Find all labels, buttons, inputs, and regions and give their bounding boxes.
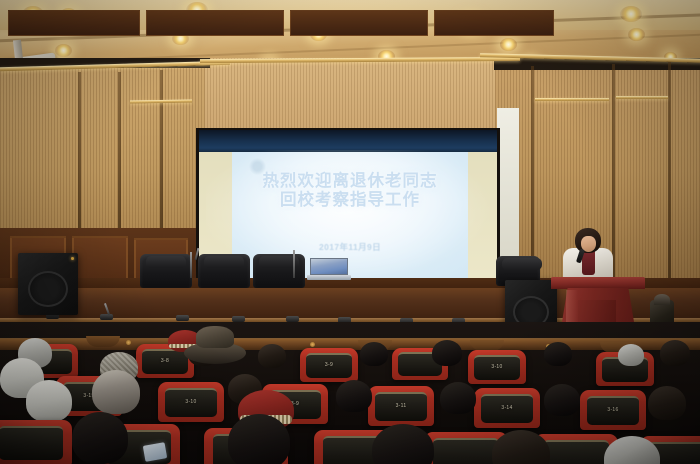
audience-seat: 3-10 <box>158 382 224 422</box>
table-microphone <box>293 250 295 278</box>
wall-panel-groove <box>612 64 615 282</box>
rail-knob-icon <box>310 342 315 347</box>
audience-head <box>440 382 476 414</box>
table-front-panel <box>290 10 428 36</box>
speaker-led-icon <box>71 257 74 260</box>
slide-title-line1: 热烈欢迎离退休老同志 <box>263 172 438 190</box>
ceiling-light-icon <box>55 44 72 57</box>
seat-back-panel: 3-11 <box>375 392 426 422</box>
wall-frame-trim <box>616 96 668 99</box>
chair-headrest <box>502 258 542 270</box>
audience-seat: 3-9 <box>300 348 358 382</box>
audience-head <box>92 370 140 414</box>
seat-number-tag: 3-14 <box>501 405 512 411</box>
audience-head <box>648 386 686 420</box>
audience-head <box>544 384 580 416</box>
seat-back-panel: 3-10 <box>165 388 216 418</box>
audience-head <box>544 342 572 366</box>
chair-headrest <box>146 256 186 268</box>
seat-back-panel: 3-14 <box>481 394 532 424</box>
wall-panel-groove <box>78 72 81 232</box>
projection-screen-mask <box>199 130 497 154</box>
table-microphone <box>190 252 192 278</box>
audience-head <box>432 340 462 366</box>
audience-seat <box>0 420 72 464</box>
side-light-panel <box>497 108 519 280</box>
head-table-chair <box>253 254 305 288</box>
ceiling-light-icon <box>500 38 517 51</box>
wall-panel-groove <box>531 66 534 280</box>
wall-frame-trim <box>535 98 609 101</box>
audience-head <box>660 340 690 366</box>
speaker-woofer-icon <box>28 271 68 307</box>
ceiling-light-icon <box>628 28 645 41</box>
slide-title-line2: 回校考察指导工作 <box>232 191 468 210</box>
audience-seat: 3-14 <box>474 388 540 428</box>
audience-head <box>618 344 644 366</box>
audience-head <box>336 380 372 412</box>
audience-seat: 3-11 <box>368 386 434 426</box>
seat-back-panel <box>0 426 63 460</box>
audience-seat: 3-16 <box>580 390 646 430</box>
rail-knob-icon <box>126 340 131 345</box>
seat-back-panel <box>543 440 609 464</box>
slide-date: 2017年11月9日 <box>232 241 468 253</box>
table-front-panel <box>8 10 140 36</box>
seat-back-panel: 3-16 <box>587 396 638 426</box>
presenter-laptop <box>310 258 348 280</box>
seat-number-tag: 3-10 <box>185 399 196 405</box>
camera-dome-icon <box>654 294 670 305</box>
audience-head <box>72 412 128 464</box>
wall-panel-groove <box>118 72 121 232</box>
seat-back-panel: 3-10 <box>474 355 519 380</box>
table-front-panel <box>434 10 554 36</box>
seat-number-tag: 3-9 <box>325 362 333 368</box>
audience-head <box>360 342 388 366</box>
seat-number-tag: 3-16 <box>607 407 618 413</box>
auditorium-photo: 热烈欢迎离退休老同志 回校考察指导工作 2017年11月9日 <box>0 0 700 464</box>
seat-number-tag: 3-11 <box>396 403 407 409</box>
loudspeaker-left <box>18 253 78 315</box>
audience-fedora-crown <box>196 326 234 348</box>
seat-back-panel: 3-8 <box>142 349 187 374</box>
chair-headrest <box>204 256 244 268</box>
seat-back-panel <box>433 438 499 464</box>
audience-head <box>258 344 286 368</box>
delegate-mic-unit <box>100 314 113 320</box>
table-front-panel <box>146 10 284 36</box>
audience-seat: 3-10 <box>468 350 526 384</box>
audience-head <box>228 414 290 464</box>
laptop-screen <box>310 258 348 275</box>
head-table-chair <box>140 254 192 288</box>
ceiling-light-icon <box>620 6 642 22</box>
audience-head <box>26 380 72 422</box>
head-table-chair <box>198 254 250 288</box>
wall-panel-groove <box>160 70 163 238</box>
seat-number-tag: 3-10 <box>491 364 502 370</box>
seat-number-tag: 3-8 <box>161 358 169 364</box>
laptop-base <box>307 275 351 280</box>
wall-panel-groove <box>668 62 671 282</box>
slide-title: 热烈欢迎离退休老同志 回校考察指导工作 <box>232 172 468 211</box>
seat-back-panel: 3-9 <box>306 353 351 378</box>
delegate-mic-unit <box>176 315 189 321</box>
podium-top <box>551 277 645 289</box>
